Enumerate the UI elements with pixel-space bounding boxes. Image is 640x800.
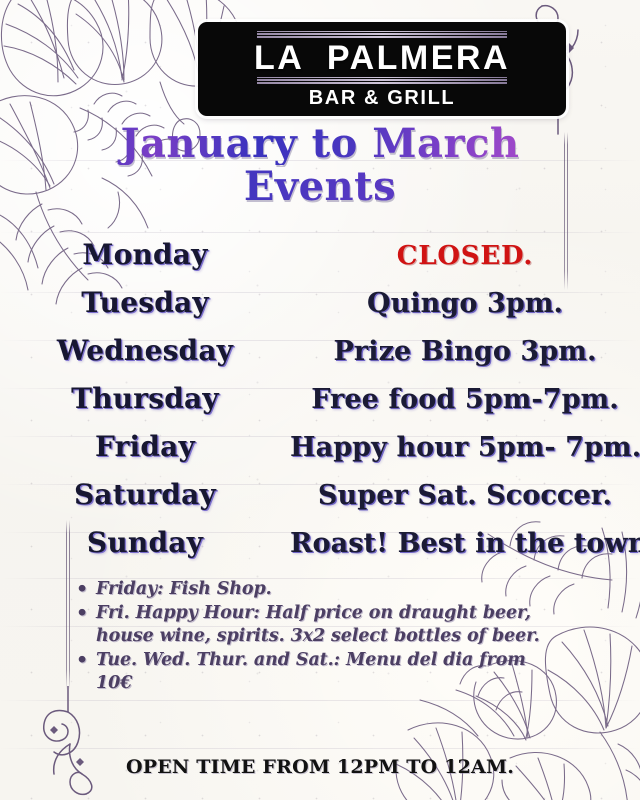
page-title-line-1: January to March xyxy=(0,122,640,165)
schedule-event-label: Super Sat. Scoccer. xyxy=(290,480,640,511)
schedule-row: FridayHappy hour 5pm- 7pm. xyxy=(0,430,640,478)
schedule-event-label: Quingo 3pm. xyxy=(290,288,640,319)
schedule-row: MondayCLOSED. xyxy=(0,238,640,286)
schedule-day-label: Friday xyxy=(0,430,290,463)
schedule-event-label: Free food 5pm-7pm. xyxy=(290,384,640,415)
poster-canvas: LA PALMERA BAR & GRILL January to March … xyxy=(0,0,640,800)
note-item: Friday: Fish Shop. xyxy=(74,578,544,600)
events-schedule: MondayCLOSED.TuesdayQuingo 3pm.Wednesday… xyxy=(0,238,640,574)
schedule-row: ThursdayFree food 5pm-7pm. xyxy=(0,382,640,430)
schedule-day-label: Saturday xyxy=(0,478,290,511)
logo-banner: LA PALMERA BAR & GRILL xyxy=(198,22,566,116)
schedule-event-label: Prize Bingo 3pm. xyxy=(290,336,640,367)
schedule-event-label: Roast! Best in the town. xyxy=(290,528,640,559)
scroll-flourish-bottom-left xyxy=(38,686,102,800)
banner-rule-top xyxy=(257,31,507,38)
schedule-day-label: Thursday xyxy=(0,382,290,415)
opening-hours: OPEN TIME FROM 12PM TO 12AM. xyxy=(0,756,640,778)
page-title-line-2: Events xyxy=(0,165,640,208)
banner-rule-bottom xyxy=(257,77,507,84)
schedule-row: SundayRoast! Best in the town. xyxy=(0,526,640,574)
schedule-row: WednesdayPrize Bingo 3pm. xyxy=(0,334,640,382)
page-title: January to March Events xyxy=(0,122,640,208)
schedule-row: SaturdaySuper Sat. Scoccer. xyxy=(0,478,640,526)
note-item: Fri. Happy Hour: Half price on draught b… xyxy=(74,602,544,647)
schedule-event-label: Happy hour 5pm- 7pm. xyxy=(290,432,640,463)
notes-list: Friday: Fish Shop.Fri. Happy Hour: Half … xyxy=(74,578,544,696)
note-item: Tue. Wed. Thur. and Sat.: Menu del dia f… xyxy=(74,649,544,694)
brand-tagline: BAR & GRILL xyxy=(309,88,455,108)
schedule-day-label: Monday xyxy=(0,238,290,271)
schedule-day-label: Tuesday xyxy=(0,286,290,319)
schedule-event-closed: CLOSED. xyxy=(290,241,640,271)
schedule-day-label: Wednesday xyxy=(0,334,290,367)
schedule-row: TuesdayQuingo 3pm. xyxy=(0,286,640,334)
schedule-day-label: Sunday xyxy=(0,526,290,559)
brand-name: LA PALMERA xyxy=(254,41,510,75)
